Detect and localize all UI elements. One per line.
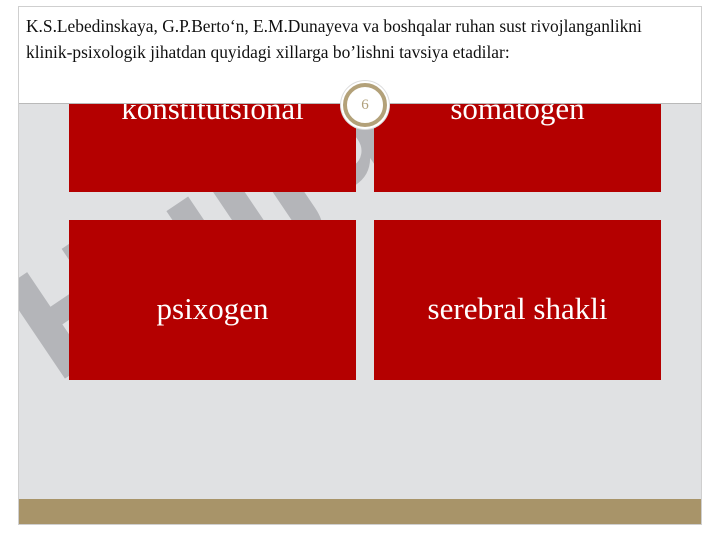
category-box-serebral-shakli[interactable]: serebral shakli bbox=[374, 220, 661, 380]
slide-canvas: Hujjat 24 konstitutsional somatogen psix… bbox=[18, 6, 702, 525]
page-number-text: 6 bbox=[361, 98, 369, 113]
slide-title: K.S.Lebedinskaya, G.P.Berto‘n, E.M.Dunay… bbox=[26, 14, 676, 65]
slide-title-line-1: K.S.Lebedinskaya, G.P.Berto‘n, E.M.Dunay… bbox=[26, 16, 495, 36]
category-box-label: serebral shakli bbox=[374, 292, 661, 326]
slide-title-line-3: bo’lishni tavsiya etadilar: bbox=[333, 42, 510, 62]
page-number-badge: 6 bbox=[343, 83, 387, 127]
footer-bar bbox=[19, 499, 702, 525]
category-box-label: psixogen bbox=[69, 292, 356, 326]
category-box-psixogen[interactable]: psixogen bbox=[69, 220, 356, 380]
